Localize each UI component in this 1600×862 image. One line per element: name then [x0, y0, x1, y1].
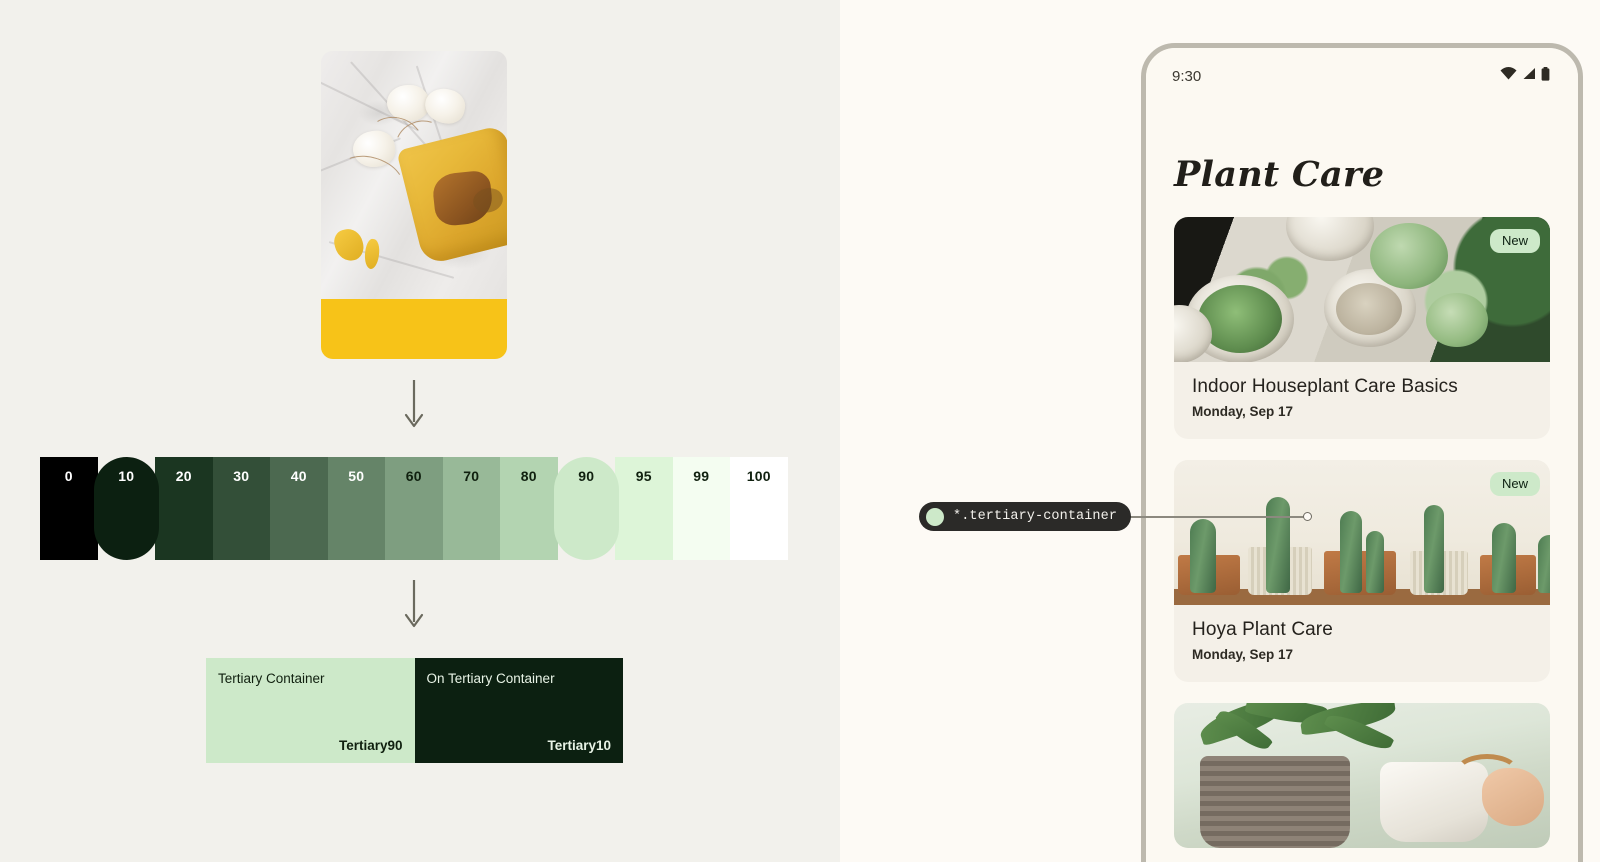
- tonal-palette: 01020304050607080909599100: [40, 457, 788, 560]
- extracted-color-swatch: [321, 299, 507, 359]
- palette-tone-label: 100: [747, 469, 771, 560]
- palette-swatch-30[interactable]: 30: [213, 457, 271, 560]
- arrow-down-icon: [399, 380, 429, 430]
- battery-icon: [1541, 67, 1550, 86]
- palette-tone-label: 95: [636, 469, 652, 560]
- card-image: New: [1174, 217, 1550, 362]
- status-badge: New: [1490, 472, 1540, 496]
- palette-tone-label: 99: [693, 469, 709, 560]
- role-box-tertiary-container[interactable]: Tertiary ContainerTertiary90: [206, 658, 415, 763]
- article-card-list: New Indoor Houseplant Care Basics Monday…: [1146, 195, 1578, 848]
- palette-swatch-90[interactable]: 90: [554, 457, 620, 560]
- palette-tone-label: 80: [521, 469, 537, 560]
- palette-swatch-70[interactable]: 70: [443, 457, 501, 560]
- palette-swatch-40[interactable]: 40: [270, 457, 328, 560]
- list-item[interactable]: New Hoya Plant Care Monday, Sep 17: [1174, 460, 1550, 682]
- palette-swatch-99[interactable]: 99: [673, 457, 731, 560]
- palette-tone-label: 60: [406, 469, 422, 560]
- palette-swatch-95[interactable]: 95: [615, 457, 673, 560]
- status-bar: 9:30: [1146, 48, 1578, 104]
- phone-mockup: 9:30 Plant Care: [1141, 43, 1583, 862]
- role-title: Tertiary Container: [218, 671, 403, 687]
- palette-swatch-20[interactable]: 20: [155, 457, 213, 560]
- palette-swatch-10[interactable]: 10: [94, 457, 160, 560]
- signal-icon: [1522, 67, 1536, 85]
- card-date: Monday, Sep 17: [1192, 404, 1532, 419]
- palette-swatch-60[interactable]: 60: [385, 457, 443, 560]
- palette-tone-label: 10: [118, 469, 134, 560]
- inspector-tooltip: *.tertiary-container: [919, 502, 1131, 531]
- list-item[interactable]: New Indoor Houseplant Care Basics Monday…: [1174, 217, 1550, 439]
- role-title: On Tertiary Container: [427, 671, 612, 687]
- color-swatch-dot: [926, 508, 944, 526]
- palette-tone-label: 70: [463, 469, 479, 560]
- palette-swatch-50[interactable]: 50: [328, 457, 386, 560]
- list-item[interactable]: [1174, 703, 1550, 848]
- color-role-boxes: Tertiary ContainerTertiary90On Tertiary …: [206, 658, 623, 763]
- status-icons: [1500, 67, 1550, 86]
- phone-screen: 9:30 Plant Care: [1146, 48, 1578, 862]
- inspector-handle[interactable]: [1303, 512, 1312, 521]
- palette-swatch-0[interactable]: 0: [40, 457, 98, 560]
- arrow-down-icon: [399, 580, 429, 630]
- palette-tone-label: 0: [65, 469, 73, 560]
- color-extraction-panel: 01020304050607080909599100 Tertiary Cont…: [0, 0, 840, 862]
- status-badge: New: [1490, 229, 1540, 253]
- card-image: [1174, 703, 1550, 848]
- page-title: Plant Care: [1146, 104, 1578, 195]
- palette-tone-label: 30: [233, 469, 249, 560]
- palette-swatch-100[interactable]: 100: [730, 457, 788, 560]
- card-image: New: [1174, 460, 1550, 605]
- tooltip-label: *.tertiary-container: [953, 509, 1117, 524]
- role-tone-label: Tertiary90: [339, 738, 403, 753]
- card-body: Indoor Houseplant Care Basics Monday, Se…: [1174, 362, 1550, 439]
- dried-flower: [387, 85, 429, 121]
- card-title: Hoya Plant Care: [1192, 619, 1532, 641]
- role-tone-label: Tertiary10: [547, 738, 611, 753]
- wifi-icon: [1500, 67, 1517, 85]
- palette-tone-label: 20: [176, 469, 192, 560]
- palette-tone-label: 50: [348, 469, 364, 560]
- palette-tone-label: 90: [578, 469, 594, 560]
- source-image-card[interactable]: [321, 51, 507, 359]
- card-body: Hoya Plant Care Monday, Sep 17: [1174, 605, 1550, 682]
- status-time: 9:30: [1172, 68, 1201, 85]
- source-photo: [321, 51, 507, 299]
- palette-tone-label: 40: [291, 469, 307, 560]
- card-date: Monday, Sep 17: [1192, 647, 1532, 662]
- role-box-on-tertiary-container[interactable]: On Tertiary ContainerTertiary10: [415, 658, 624, 763]
- card-title: Indoor Houseplant Care Basics: [1192, 376, 1532, 398]
- app-preview-panel: 9:30 Plant Care: [840, 0, 1600, 862]
- palette-swatch-80[interactable]: 80: [500, 457, 558, 560]
